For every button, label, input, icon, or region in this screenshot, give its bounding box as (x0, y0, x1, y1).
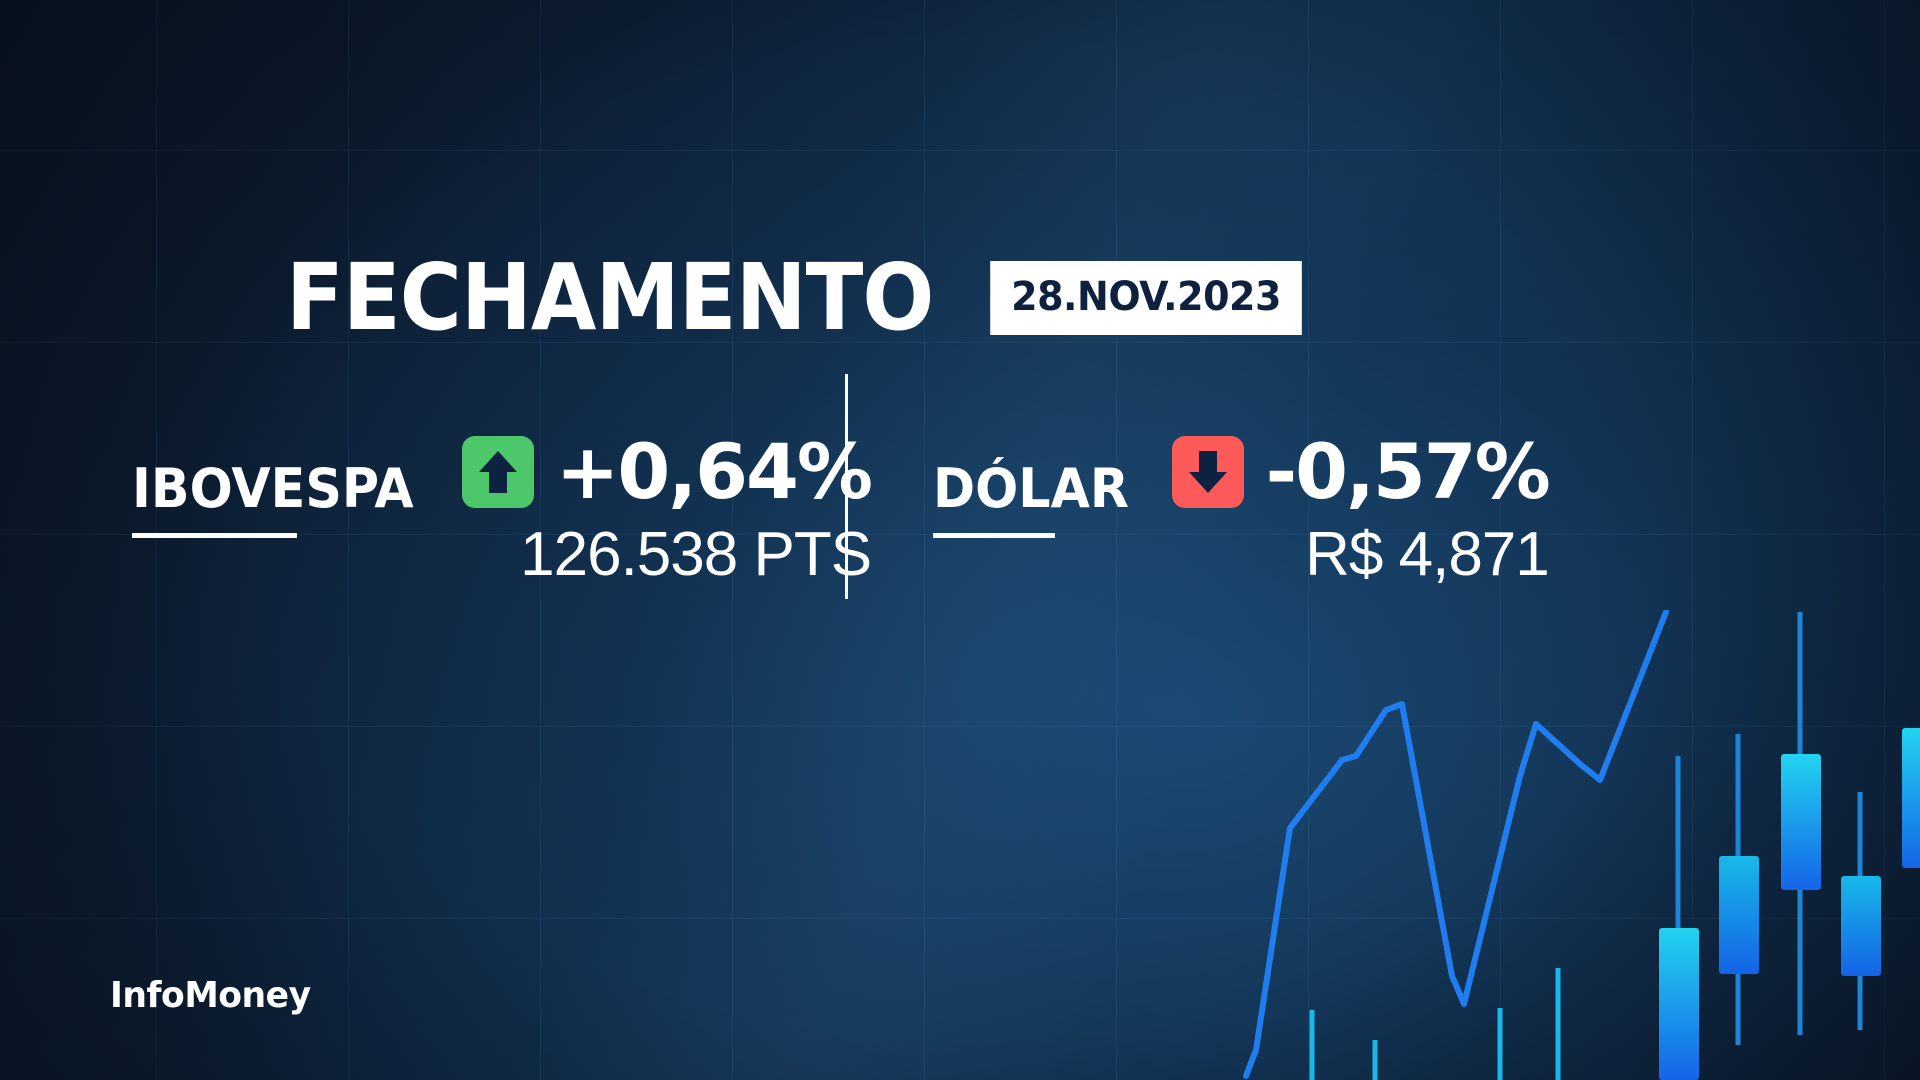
quote-values-dolar: -0,57% R$ 4,871 (1172, 430, 1549, 586)
quote-label-dolar: DÓLAR (933, 462, 1129, 516)
poster-canvas: FECHAMENTO 28.NOV.2023 IBOVESPA +0,64% (0, 0, 1920, 1080)
quote-card-ibovespa: IBOVESPA +0,64% 126.538 PTS (132, 430, 871, 586)
arrow-down-icon (1172, 436, 1244, 508)
date-badge: 28.NOV.2023 (990, 261, 1302, 335)
label-underline-dolar (933, 533, 1055, 538)
quote-label-block-ibovespa: IBOVESPA (132, 430, 432, 538)
quote-change-ibovespa: +0,64% (556, 434, 871, 510)
quotes-row: IBOVESPA +0,64% 126.538 PTS DÓLAR (0, 430, 1920, 690)
quote-value-ibovespa: 126.538 PTS (520, 524, 871, 586)
page-title: FECHAMENTO (286, 253, 933, 343)
headline: FECHAMENTO 28.NOV.2023 (286, 253, 1310, 343)
label-underline-ibovespa (132, 533, 297, 538)
quotes-divider (845, 374, 848, 599)
quote-label-block-dolar: DÓLAR (933, 430, 1142, 538)
quote-change-row-ibovespa: +0,64% (462, 434, 871, 510)
arrow-up-icon (462, 436, 534, 508)
quote-value-dolar: R$ 4,871 (1305, 524, 1549, 586)
quote-change-row-dolar: -0,57% (1172, 434, 1549, 510)
infomoney-logo: InfoMoney (110, 975, 311, 1016)
quote-change-dolar: -0,57% (1266, 434, 1549, 510)
quote-card-dolar: DÓLAR -0,57% R$ 4,871 (933, 430, 1549, 586)
quote-label-ibovespa: IBOVESPA (132, 462, 414, 516)
quote-values-ibovespa: +0,64% 126.538 PTS (462, 430, 871, 586)
